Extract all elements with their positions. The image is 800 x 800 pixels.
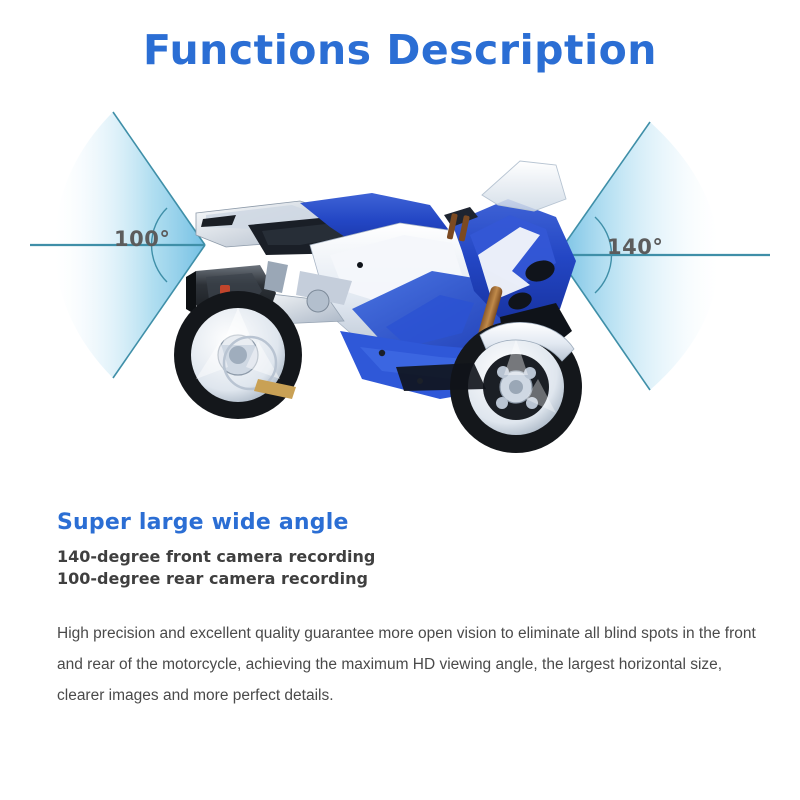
fairing-bolt-1 — [379, 350, 385, 356]
feature-list: 140-degree front camera recording 100-de… — [57, 546, 375, 590]
fairing-bolt-2 — [417, 378, 423, 384]
front-axle — [509, 380, 523, 394]
windscreen — [482, 161, 566, 211]
front-disc-hole-4 — [496, 397, 508, 409]
page-root: Functions Description — [0, 0, 800, 800]
rear-shock — [264, 261, 288, 293]
front-view-cone-140 — [557, 122, 770, 390]
diagram-svg — [0, 95, 800, 485]
rear-wheel — [174, 291, 302, 419]
feature-line-rear: 100-degree rear camera recording — [57, 568, 375, 590]
engine-shadow — [396, 363, 486, 391]
feature-heading: Super large wide angle — [57, 510, 349, 535]
page-title: Functions Description — [0, 28, 800, 73]
viewing-angle-diagram: 100° 140° — [0, 95, 800, 485]
fairing-bolt-3 — [357, 262, 363, 268]
motorcycle-illustration — [174, 161, 582, 453]
pivot-bolt — [307, 290, 329, 312]
rear-angle-label: 100° — [114, 227, 170, 251]
description-paragraph: High precision and excellent quality gua… — [57, 618, 757, 711]
rear-axle — [229, 346, 247, 364]
front-angle-label: 140° — [607, 235, 663, 259]
feature-line-front: 140-degree front camera recording — [57, 546, 375, 568]
